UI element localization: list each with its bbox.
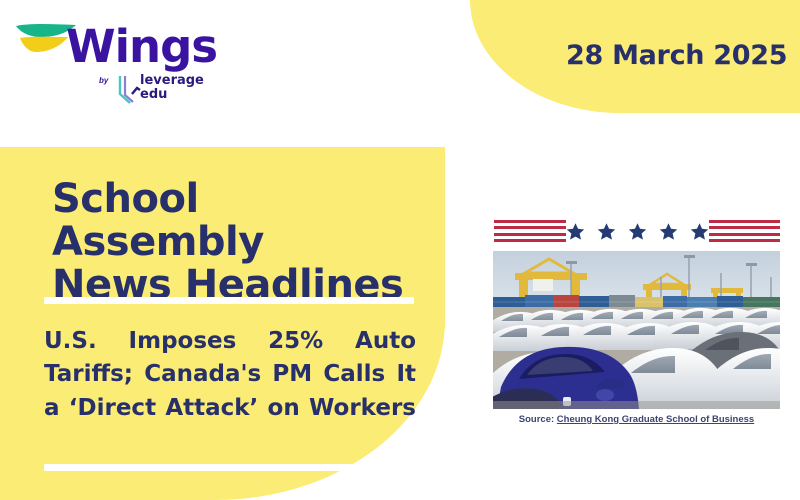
checkmark-arrow-icon (116, 74, 142, 106)
source-caption: Source: Cheung Kong Graduate School of B… (493, 414, 780, 425)
divider-bottom (44, 464, 414, 471)
usa-flag-banner (494, 219, 780, 243)
star-icon (566, 222, 585, 241)
star-icon (628, 222, 647, 241)
headline-text: U.S. Imposes 25% Auto Tariffs; Canada's … (44, 325, 416, 458)
flag-stripes-left-icon (494, 220, 566, 242)
leverage-edu-line1: leverage (140, 73, 204, 88)
star-icon (597, 222, 616, 241)
news-photo (493, 251, 780, 409)
divider-top (44, 297, 414, 304)
brand-by-label: by (99, 76, 108, 85)
brand-logo[interactable]: Wings by leverage edu (14, 16, 204, 108)
source-prefix: Source: (519, 414, 554, 425)
leverage-edu-line2: edu (140, 87, 167, 102)
leverage-edu-sublogo: leverage edu (116, 74, 204, 106)
brand-wordmark: Wings (66, 24, 217, 69)
star-icon (659, 222, 678, 241)
flag-stripes-right-icon (709, 220, 781, 242)
source-link[interactable]: Cheung Kong Graduate School of Business (557, 414, 754, 425)
page-title-line1: School Assembly (52, 176, 264, 265)
news-headline-card: Wings by leverage edu 28 March 2025 Scho… (0, 0, 800, 500)
star-icon (690, 222, 709, 241)
leverage-edu-text: leverage edu (140, 74, 204, 102)
flag-stars-group (566, 222, 709, 241)
date-label: 28 March 2025 (566, 40, 787, 71)
page-title: School Assembly News Headlines (52, 178, 422, 306)
